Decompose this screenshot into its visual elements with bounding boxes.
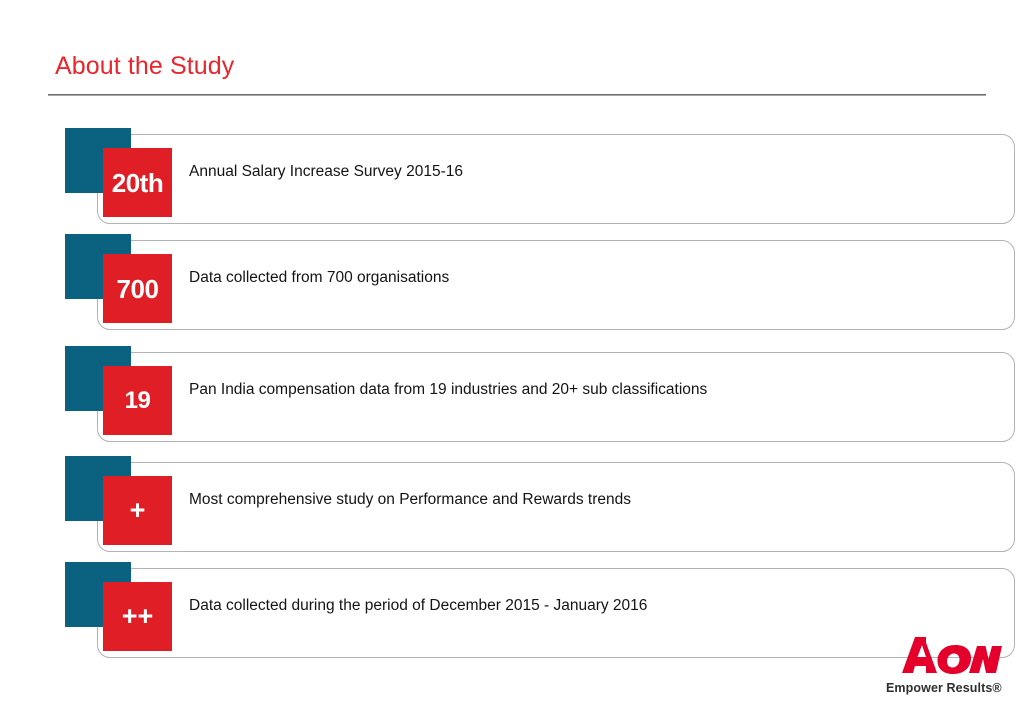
aon-wordmark-icon	[884, 634, 1002, 676]
fact-badge-label: +	[130, 497, 146, 524]
fact-text: Most comprehensive study on Performance …	[189, 491, 631, 509]
list-item: 19 Pan India compensation data from 19 i…	[0, 338, 1036, 444]
list-item: 20th Annual Salary Increase Survey 2015-…	[0, 120, 1036, 226]
title-divider	[48, 94, 986, 96]
list-item: ++ Data collected during the period of D…	[0, 554, 1036, 660]
aon-tagline: Empower Results®	[886, 681, 1002, 695]
fact-badge: 19	[103, 366, 172, 435]
aon-logo: Empower Results®	[884, 634, 1020, 706]
fact-badge-label: 700	[117, 276, 159, 302]
fact-badge: +	[103, 476, 172, 545]
fact-badge: 700	[103, 254, 172, 323]
fact-badge-label: 19	[125, 389, 151, 413]
fact-badge: 20th	[103, 148, 172, 217]
fact-text: Pan India compensation data from 19 indu…	[189, 381, 707, 399]
fact-badge-label: 20th	[112, 170, 163, 196]
fact-badge-label: ++	[122, 603, 154, 630]
slide: About the Study 20th Annual Salary Incre…	[0, 0, 1036, 721]
fact-text: Data collected during the period of Dece…	[189, 597, 647, 615]
list-item: + Most comprehensive study on Performanc…	[0, 448, 1036, 554]
list-item: 700 Data collected from 700 organisation…	[0, 226, 1036, 332]
fact-text: Data collected from 700 organisations	[189, 269, 449, 287]
fact-badge: ++	[103, 582, 172, 651]
page-title: About the Study	[55, 52, 234, 81]
fact-text: Annual Salary Increase Survey 2015-16	[189, 163, 463, 181]
